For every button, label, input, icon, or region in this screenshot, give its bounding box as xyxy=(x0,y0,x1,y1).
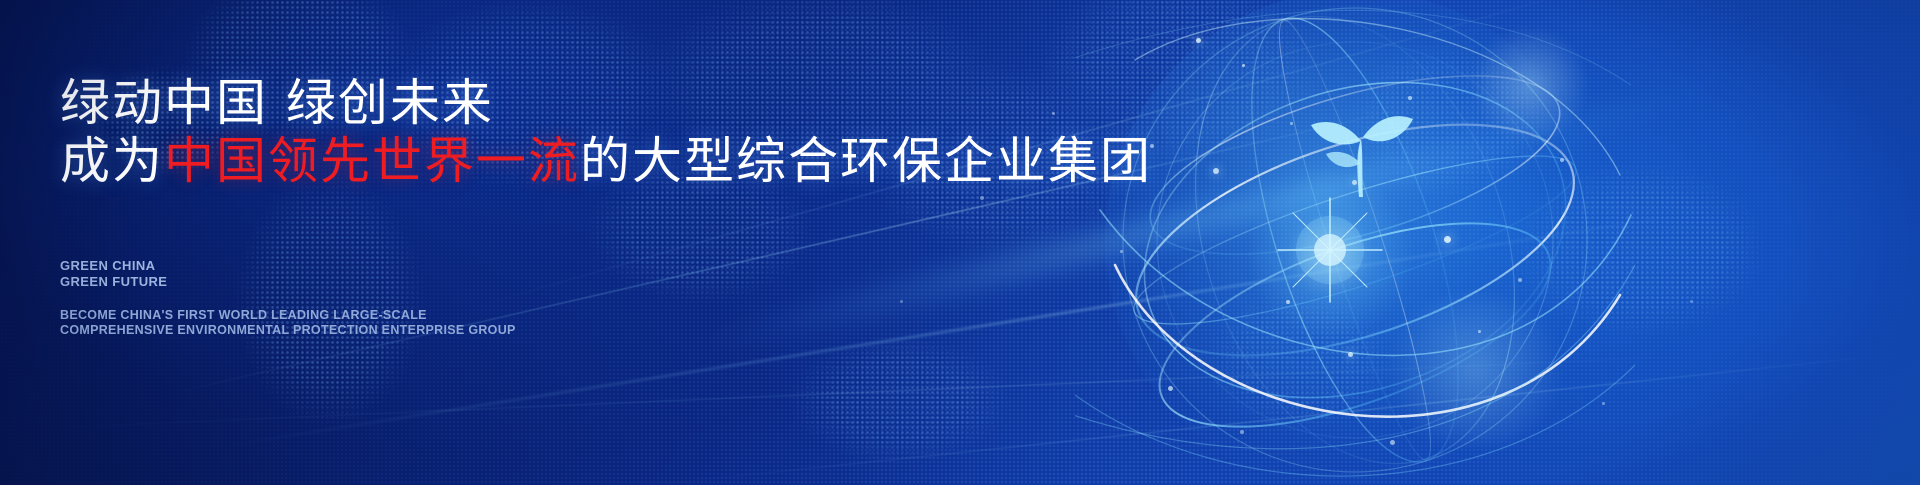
headline-line-2: 成为中国领先世界一流的大型综合环保企业集团 xyxy=(60,136,1152,186)
tagline-english: BECOME CHINA'S FIRST WORLD LEADING LARGE… xyxy=(60,308,516,338)
sprout-icon xyxy=(1307,105,1415,201)
tagline-english-line-2: COMPREHENSIVE ENVIRONMENTAL PROTECTION E… xyxy=(60,323,516,338)
headline-prefix: 成为 xyxy=(60,132,164,190)
slogan-english-line-1: GREEN CHINA xyxy=(60,258,167,274)
light-burst-icon xyxy=(1260,180,1400,320)
headline-line-1: 绿动中国 绿创未来 xyxy=(60,78,494,128)
globe-graphic xyxy=(1075,0,1635,485)
tagline-english-line-1: BECOME CHINA'S FIRST WORLD LEADING LARGE… xyxy=(60,308,516,323)
hero-banner: 绿动中国 绿创未来 成为中国领先世界一流的大型综合环保企业集团 GREEN CH… xyxy=(0,0,1920,485)
headline-highlight: 中国领先世界一流 xyxy=(164,132,580,190)
banner-text-block: 绿动中国 绿创未来 成为中国领先世界一流的大型综合环保企业集团 GREEN CH… xyxy=(60,0,1060,485)
headline-suffix: 的大型综合环保企业集团 xyxy=(580,132,1152,190)
slogan-english: GREEN CHINA GREEN FUTURE xyxy=(60,258,167,290)
slogan-english-line-2: GREEN FUTURE xyxy=(60,274,167,290)
